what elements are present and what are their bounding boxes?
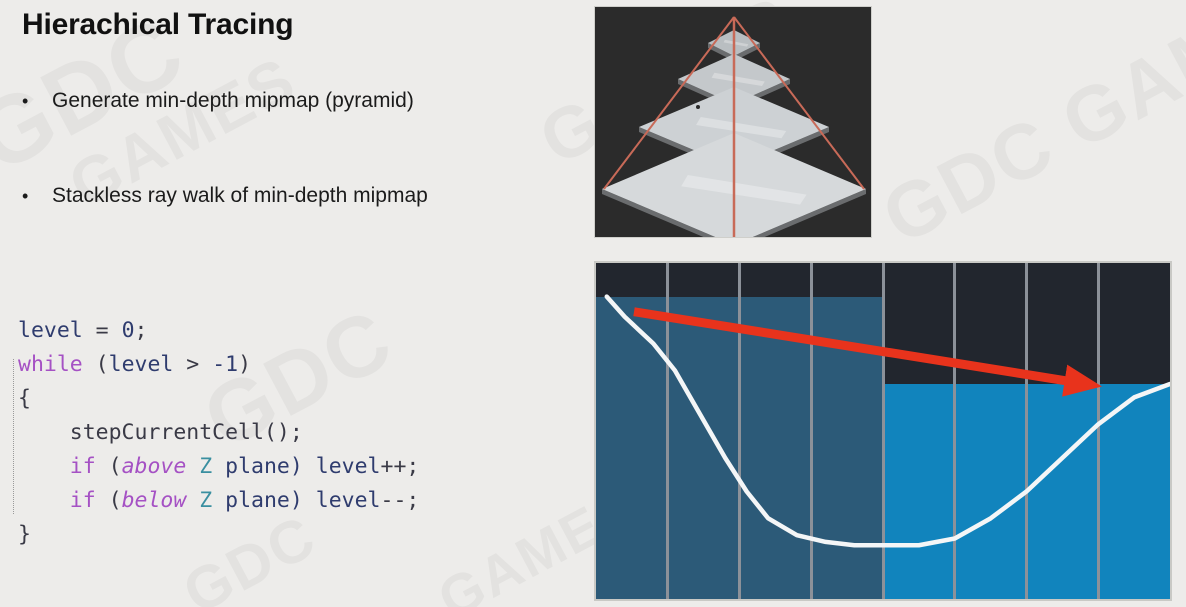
- code-token: [18, 488, 70, 513]
- code-line: {: [18, 382, 419, 416]
- pyramid-sample-point-icon: [696, 105, 700, 109]
- code-line: }: [18, 518, 419, 552]
- code-line: while (level > -1): [18, 348, 419, 382]
- code-token: =: [83, 318, 122, 343]
- code-token: plane): [212, 454, 316, 479]
- code-token: >: [173, 352, 212, 377]
- code-token: (: [96, 454, 122, 479]
- background-watermark: GDC GAMES: [868, 0, 1186, 263]
- code-line: stepCurrentCell();: [18, 416, 419, 450]
- code-token: level: [18, 318, 83, 343]
- code-token: {: [18, 386, 31, 411]
- bullet-marker-icon: •: [22, 187, 52, 205]
- bullet-marker-icon: •: [22, 92, 52, 110]
- page-title: Hierachical Tracing: [22, 8, 293, 42]
- code-token: -1: [212, 352, 238, 377]
- code-token: ++;: [381, 454, 420, 479]
- code-token: --;: [381, 488, 420, 513]
- slide-canvas: GDCGAMESGDCGAMESGDC GAMESGDCGAMES Hierac…: [0, 0, 1186, 607]
- code-token: ): [238, 352, 251, 377]
- code-token: below: [122, 488, 187, 513]
- code-line: if (above Z plane) level++;: [18, 450, 419, 484]
- ray-walk-overlay: [596, 263, 1170, 599]
- code-token: (: [96, 488, 122, 513]
- code-token: }: [18, 522, 31, 547]
- bullet-label: Generate min-depth mipmap (pyramid): [52, 89, 414, 113]
- bullet-item-generate-mipmap: • Generate min-depth mipmap (pyramid): [22, 89, 414, 113]
- depth-curve: [607, 297, 1170, 546]
- code-indent-guide: [13, 359, 14, 514]
- code-token: ;: [135, 318, 148, 343]
- ray-walk-figure: [594, 261, 1172, 601]
- code-token: level: [109, 352, 174, 377]
- code-line: if (below Z plane) level--;: [18, 484, 419, 518]
- code-token: Z: [199, 454, 212, 479]
- bullet-label: Stackless ray walk of min-depth mipmap: [52, 184, 428, 208]
- bullet-item-stackless-ray-walk: • Stackless ray walk of min-depth mipmap: [22, 184, 428, 208]
- code-token: level: [316, 454, 381, 479]
- code-token: if: [70, 454, 96, 479]
- code-token: (: [83, 352, 109, 377]
- mipmap-pyramid-illustration: [595, 7, 872, 238]
- code-token: if: [70, 488, 96, 513]
- traced-ray-arrow: [634, 312, 1075, 383]
- code-token: [186, 488, 199, 513]
- code-token: [186, 454, 199, 479]
- code-token: stepCurrentCell: [18, 420, 264, 445]
- code-token: [18, 454, 70, 479]
- code-token: above: [122, 454, 187, 479]
- code-line: level = 0;: [18, 314, 419, 348]
- code-token: while: [18, 352, 83, 377]
- code-token: plane): [212, 488, 316, 513]
- code-token: 0: [122, 318, 135, 343]
- code-token: level: [316, 488, 381, 513]
- ray-walk-canvas: [596, 263, 1170, 599]
- code-token: ();: [264, 420, 303, 445]
- code-token: Z: [199, 488, 212, 513]
- mipmap-pyramid-figure: [594, 6, 872, 238]
- code-snippet: level = 0;while (level > -1){ stepCurren…: [18, 314, 419, 552]
